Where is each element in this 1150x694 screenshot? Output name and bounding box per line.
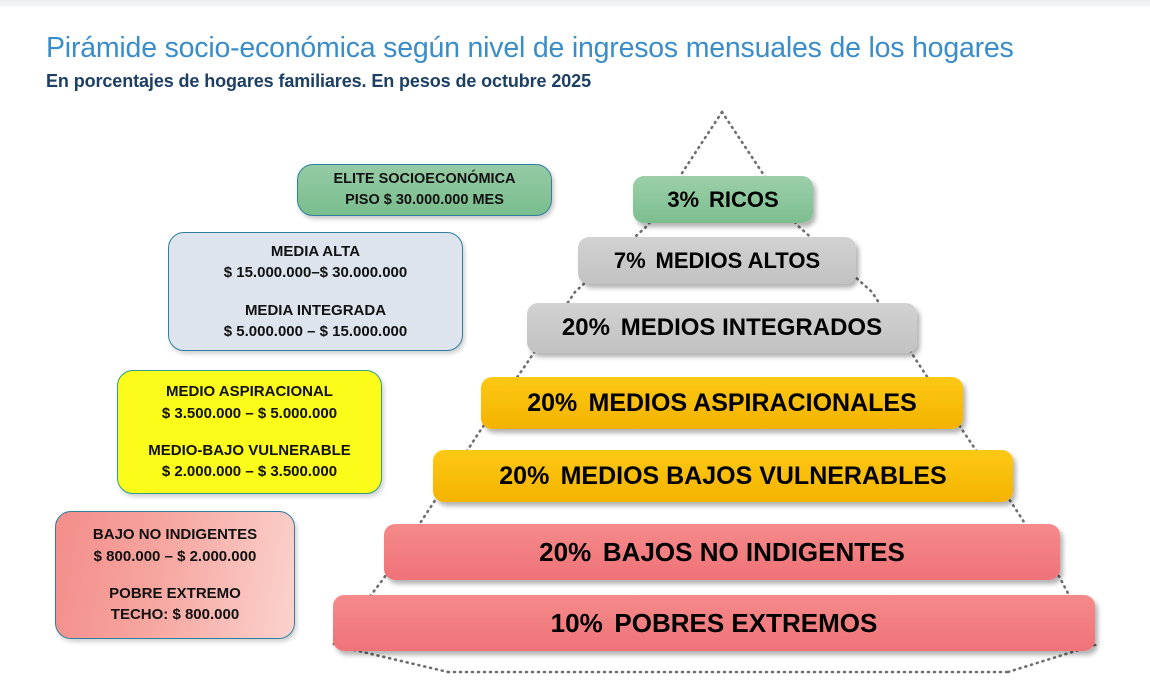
pyramid-level-bajos-no-indigentes-percent: 20% <box>539 537 591 568</box>
pyramid-level-pobres-extremos[interactable]: 10% POBRES EXTREMOS <box>333 595 1095 651</box>
pyramid-level-bajos-no-indigentes[interactable]: 20% BAJOS NO INDIGENTES <box>384 524 1060 580</box>
callout-group: BAJO NO INDIGENTES $ 800.000 – $ 2.000.0… <box>93 524 257 567</box>
pyramid-level-medios-integrados[interactable]: 20% MEDIOS INTEGRADOS <box>527 303 917 353</box>
pyramid-level-ricos[interactable]: 3% RICOS <box>633 176 813 223</box>
pyramid-level-medios-altos-percent: 7% <box>614 248 646 274</box>
callout-group: MEDIA ALTA $ 15.000.000–$ 30.000.000 <box>224 241 408 284</box>
callout-group-name: MEDIO-BAJO VULNERABLE <box>148 440 351 461</box>
callout-medio[interactable]: MEDIO ASPIRACIONAL $ 3.500.000 – $ 5.000… <box>117 370 382 494</box>
top-strip <box>0 0 1150 7</box>
callout-group-name: MEDIO ASPIRACIONAL <box>162 381 337 402</box>
pyramid-level-bajos-no-indigentes-label: BAJOS NO INDIGENTES <box>603 537 905 568</box>
callout-group-range: $ 15.000.000–$ 30.000.000 <box>224 262 408 283</box>
slide-canvas: Pirámide socio-económica según nivel de … <box>0 0 1150 694</box>
callout-elite-socioeconomica[interactable]: ELITE SOCIOECONÓMICA PISO $ 30.000.000 M… <box>297 164 552 216</box>
callout-group-range: $ 800.000 – $ 2.000.000 <box>93 546 257 567</box>
callout-group: MEDIO-BAJO VULNERABLE $ 2.000.000 – $ 3.… <box>148 440 351 483</box>
pyramid-level-pobres-extremos-label: POBRES EXTREMOS <box>614 608 877 639</box>
callout-group-range: $ 5.000.000 – $ 15.000.000 <box>224 321 408 342</box>
page-subtitle: En porcentajes de hogares familiares. En… <box>46 71 591 92</box>
callout-group-name: BAJO NO INDIGENTES <box>93 524 257 545</box>
callout-group-name: MEDIA INTEGRADA <box>224 300 408 321</box>
pyramid-level-medios-altos-label: MEDIOS ALTOS <box>656 248 821 274</box>
callout-group-range: PISO $ 30.000.000 MES <box>333 190 515 211</box>
pyramid-level-medios-bajos-vulnerables-label: MEDIOS BAJOS VULNERABLES <box>561 462 947 491</box>
pyramid-level-ricos-label: RICOS <box>709 187 779 213</box>
pyramid-level-medios-aspiracionales-label: MEDIOS ASPIRACIONALES <box>589 389 917 418</box>
callout-group-range: $ 3.500.000 – $ 5.000.000 <box>162 403 337 424</box>
callout-group: ELITE SOCIOECONÓMICA PISO $ 30.000.000 M… <box>333 169 515 210</box>
pyramid-level-medios-integrados-percent: 20% <box>562 314 610 342</box>
callout-group: MEDIO ASPIRACIONAL $ 3.500.000 – $ 5.000… <box>162 381 337 424</box>
callout-group-name: POBRE EXTREMO <box>109 583 241 604</box>
pyramid-level-medios-altos[interactable]: 7% MEDIOS ALTOS <box>578 237 856 284</box>
pyramid-level-medios-bajos-vulnerables-percent: 20% <box>499 462 549 491</box>
callout-group-range: TECHO: $ 800.000 <box>109 604 241 625</box>
page-title: Pirámide socio-económica según nivel de … <box>46 32 1014 65</box>
callout-bajo[interactable]: BAJO NO INDIGENTES $ 800.000 – $ 2.000.0… <box>55 511 295 639</box>
callout-group: POBRE EXTREMO TECHO: $ 800.000 <box>109 583 241 626</box>
pyramid-level-medios-aspiracionales[interactable]: 20% MEDIOS ASPIRACIONALES <box>481 377 963 429</box>
pyramid-level-ricos-percent: 3% <box>667 187 699 213</box>
pyramid-level-pobres-extremos-percent: 10% <box>551 608 603 639</box>
callout-group-range: $ 2.000.000 – $ 3.500.000 <box>148 461 351 482</box>
pyramid-level-medios-bajos-vulnerables[interactable]: 20% MEDIOS BAJOS VULNERABLES <box>433 450 1013 502</box>
callout-group-name: MEDIA ALTA <box>224 241 408 262</box>
callout-group-name: ELITE SOCIOECONÓMICA <box>333 169 515 190</box>
pyramid-level-medios-aspiracionales-percent: 20% <box>527 389 577 418</box>
callout-media[interactable]: MEDIA ALTA $ 15.000.000–$ 30.000.000 MED… <box>168 232 463 351</box>
pyramid-level-medios-integrados-label: MEDIOS INTEGRADOS <box>621 314 882 342</box>
callout-group: MEDIA INTEGRADA $ 5.000.000 – $ 15.000.0… <box>224 300 408 343</box>
